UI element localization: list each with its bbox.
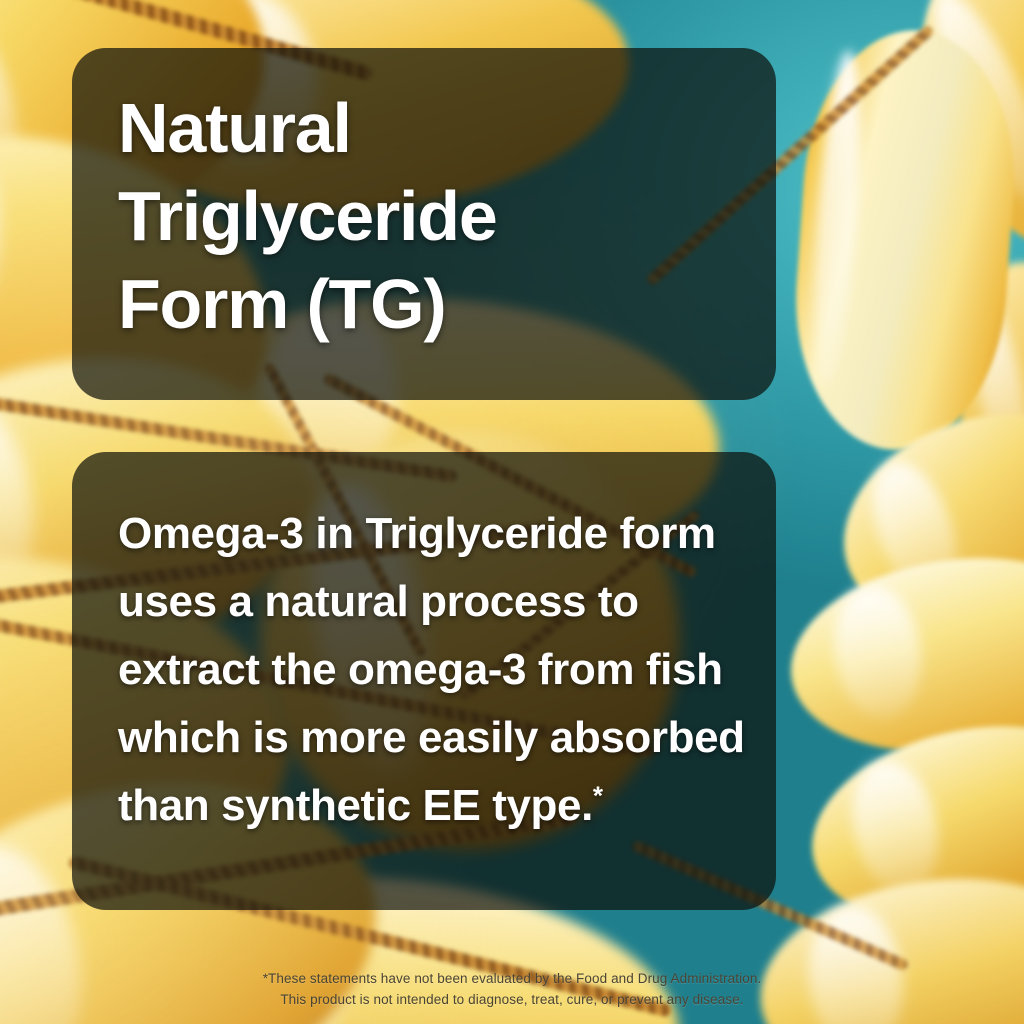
disclaimer-line-2: This product is not intended to diagnose… [0, 989, 1024, 1010]
disclaimer-line-1: *These statements have not been evaluate… [0, 968, 1024, 989]
fda-disclaimer: *These statements have not been evaluate… [0, 968, 1024, 1010]
page-title: Natural Triglyceride Form (TG) [118, 84, 758, 348]
product-infographic: Natural Triglyceride Form (TG) Omega-3 i… [0, 0, 1024, 1024]
footnote-marker: * [593, 780, 603, 810]
body-paragraph: Omega-3 in Triglyceride form uses a natu… [118, 500, 748, 840]
body-paragraph-text: Omega-3 in Triglyceride form uses a natu… [118, 509, 745, 830]
